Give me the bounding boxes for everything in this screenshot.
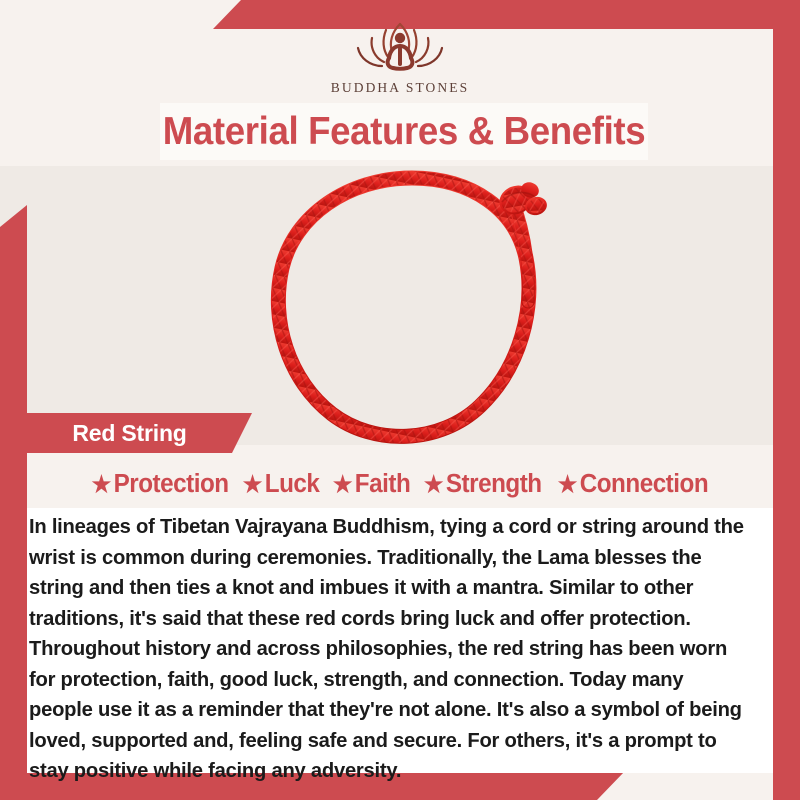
product-label-text: Red String [27,413,232,453]
description-card: In lineages of Tibetan Vajrayana Buddhis… [27,508,773,773]
benefit-strength: ★ Strength [415,470,541,499]
benefit-protection: ★ Protection [91,470,228,499]
brand-wordmark: BUDDHA STONES [331,80,469,96]
red-braided-string-bracelet-image [244,166,584,445]
star-icon: ★ [243,473,262,496]
benefits-row: ★ Protection ★ Luck ★ Faith ★ Strength ★… [27,462,773,506]
benefit-label: Strength [446,470,542,499]
star-icon: ★ [424,473,443,496]
description-paragraph: In lineages of Tibetan Vajrayana Buddhis… [29,512,752,787]
lotus-meditation-icon [330,16,470,78]
benefit-label: Faith [354,470,410,499]
benefit-label: Connection [580,470,708,499]
star-icon: ★ [558,473,577,496]
benefit-label: Protection [113,470,228,499]
star-icon: ★ [91,473,110,496]
frame-accent-left [0,205,27,800]
frame-accent-right [773,0,800,800]
material-features-poster: BUDDHA STONES Material Features & Benefi… [0,0,800,800]
brand-logo: BUDDHA STONES [0,16,800,102]
benefit-faith: ★ Faith [324,470,410,499]
star-icon: ★ [332,473,351,496]
product-image-area [27,166,773,445]
benefit-luck: ★ Luck [234,470,319,499]
benefit-label: Luck [265,470,320,499]
page-title: Material Features & Benefits [175,103,634,160]
benefit-connection: ★ Connection [549,470,708,499]
